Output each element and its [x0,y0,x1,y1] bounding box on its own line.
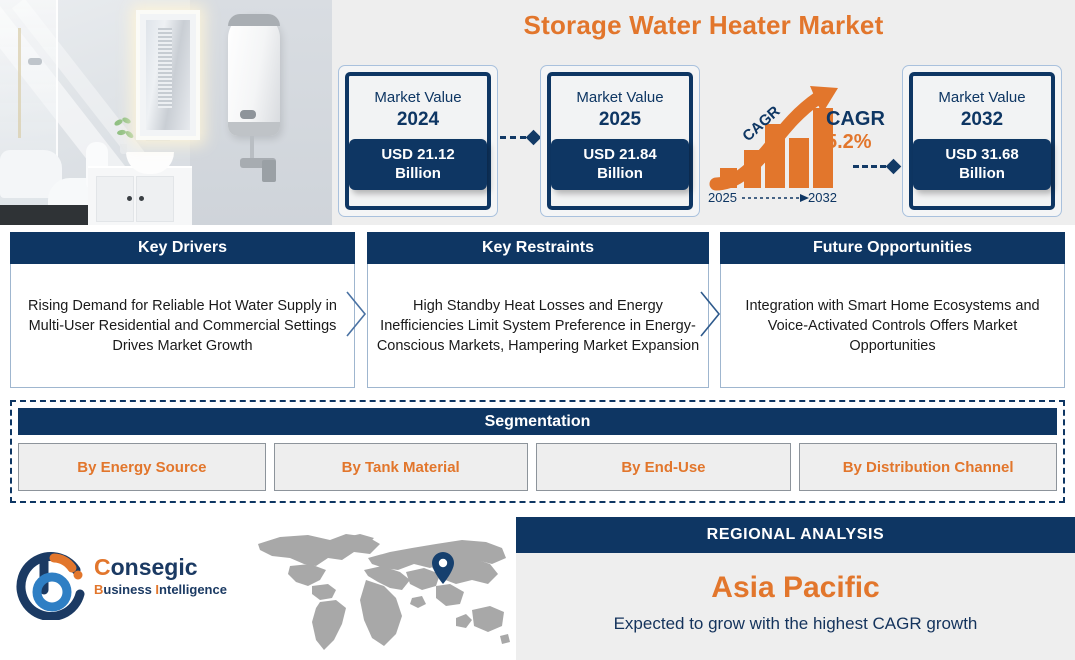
panel-key-restraints: Key Restraints High Standby Heat Losses … [367,232,709,388]
connector-cagr-to-2032 [853,160,899,172]
segmentation-section: Segmentation By Energy Source By Tank Ma… [10,400,1065,503]
segment-by-energy-source[interactable]: By Energy Source [18,443,266,491]
logo-tagline-b: B [94,582,103,597]
photo-heater-base [228,122,280,136]
market-value-amount: USD 21.84 Billion [551,139,689,190]
market-value-card-inner: Market Value 2024 USD 21.12 Billion [345,72,491,210]
photo-cabinet-knob [127,196,132,201]
logo-company-name: Consegic [94,554,227,580]
page-title: Storage Water Heater Market [332,10,1075,41]
chevron-connector-icon [345,290,367,338]
photo-leaf [124,130,134,140]
market-value-card-2032: Market Value 2032 USD 31.68 Billion [902,65,1062,217]
photo-vase [120,144,127,154]
segmentation-heading: Segmentation [18,408,1057,435]
market-value-label: Market Value [576,88,663,107]
segmentation-row: By Energy Source By Tank Material By End… [18,443,1057,491]
panel-key-drivers: Key Drivers Rising Demand for Reliable H… [10,232,355,388]
photo-heater-cap [228,14,280,26]
world-map-landmasses [258,534,510,650]
photo-heater-dial [240,110,256,119]
chevron-connector-icon [699,290,721,338]
logo-name-rest: onsegic [111,554,198,580]
connector-2024-to-2025 [500,131,539,143]
logo-tagline-ntelligence: ntelligence [159,582,227,597]
connector-line [853,165,886,168]
photo-cabinet-knob [139,196,144,201]
regional-analysis-region: Asia Pacific [516,571,1075,605]
consegic-logo-mark-icon [14,548,90,620]
panel-heading: Future Opportunities [720,232,1065,264]
photo-window-blind [158,28,172,108]
cagr-readout: CAGR 5.2% [826,108,885,154]
cagr-bar-4 [789,138,809,188]
infographic-page: Storage Water Heater Market Market Value… [0,0,1075,660]
market-value-year: 2024 [397,108,439,132]
panel-heading: Key Restraints [367,232,709,264]
market-value-card-inner: Market Value 2032 USD 31.68 Billion [909,72,1055,210]
logo-tagline-usiness: usiness [103,582,155,597]
consegic-logo: Consegic Business Intelligence [14,548,239,623]
connector-diamond-icon [886,158,902,174]
market-value-label: Market Value [938,88,1025,107]
photo-backlit-mirror [136,10,200,140]
cagr-start-year: 2025 [708,190,737,205]
panel-text: High Standby Heat Losses and Energy Inef… [367,264,709,388]
panel-future-opportunities: Future Opportunities Integration with Sm… [720,232,1065,388]
cagr-label: CAGR [826,108,885,130]
photo-leaf [121,116,131,124]
panel-text: Integration with Smart Home Ecosystems a… [720,264,1065,388]
photo-mirror-glass [146,20,190,130]
market-value-amount: USD 31.68 Billion [913,139,1051,190]
market-value-amount: USD 21.12 Billion [349,139,487,190]
world-map [250,528,512,654]
segment-by-end-use[interactable]: By End-Use [536,443,792,491]
connector-diamond-icon [526,129,542,145]
logo-name-initial: C [94,554,111,580]
market-value-year: 2025 [599,108,641,132]
regional-analysis-section: REGIONAL ANALYSIS Asia Pacific Expected … [516,517,1075,660]
panel-text: Rising Demand for Reliable Hot Water Sup… [10,264,355,388]
regional-analysis-note: Expected to grow with the highest CAGR g… [516,614,1075,634]
bathroom-photo [0,0,332,225]
regional-analysis-heading: REGIONAL ANALYSIS [516,517,1075,553]
cagr-value: 5.2% [826,130,885,154]
market-value-year: 2032 [961,108,1003,132]
photo-plant [112,118,134,152]
consegic-logo-text: Consegic Business Intelligence [94,554,227,598]
photo-heater-valve [262,160,276,182]
market-value-card-inner: Market Value 2025 USD 21.84 Billion [547,72,693,210]
panel-heading: Key Drivers [10,232,355,264]
photo-shower-head [28,58,42,65]
photo-shower-rail [18,28,21,138]
cagr-growth-chart: CAGR 2025 2032 CAGR 5.2% [706,80,898,215]
cagr-end-year: 2032 [808,190,837,205]
market-value-card-2025: Market Value 2025 USD 21.84 Billion [540,65,700,217]
segment-by-tank-material[interactable]: By Tank Material [274,443,528,491]
segment-by-distribution-channel[interactable]: By Distribution Channel [799,443,1057,491]
market-value-card-2024: Market Value 2024 USD 21.12 Billion [338,65,498,217]
market-value-label: Market Value [374,88,461,107]
logo-tagline: Business Intelligence [94,581,227,598]
connector-line [500,136,526,139]
